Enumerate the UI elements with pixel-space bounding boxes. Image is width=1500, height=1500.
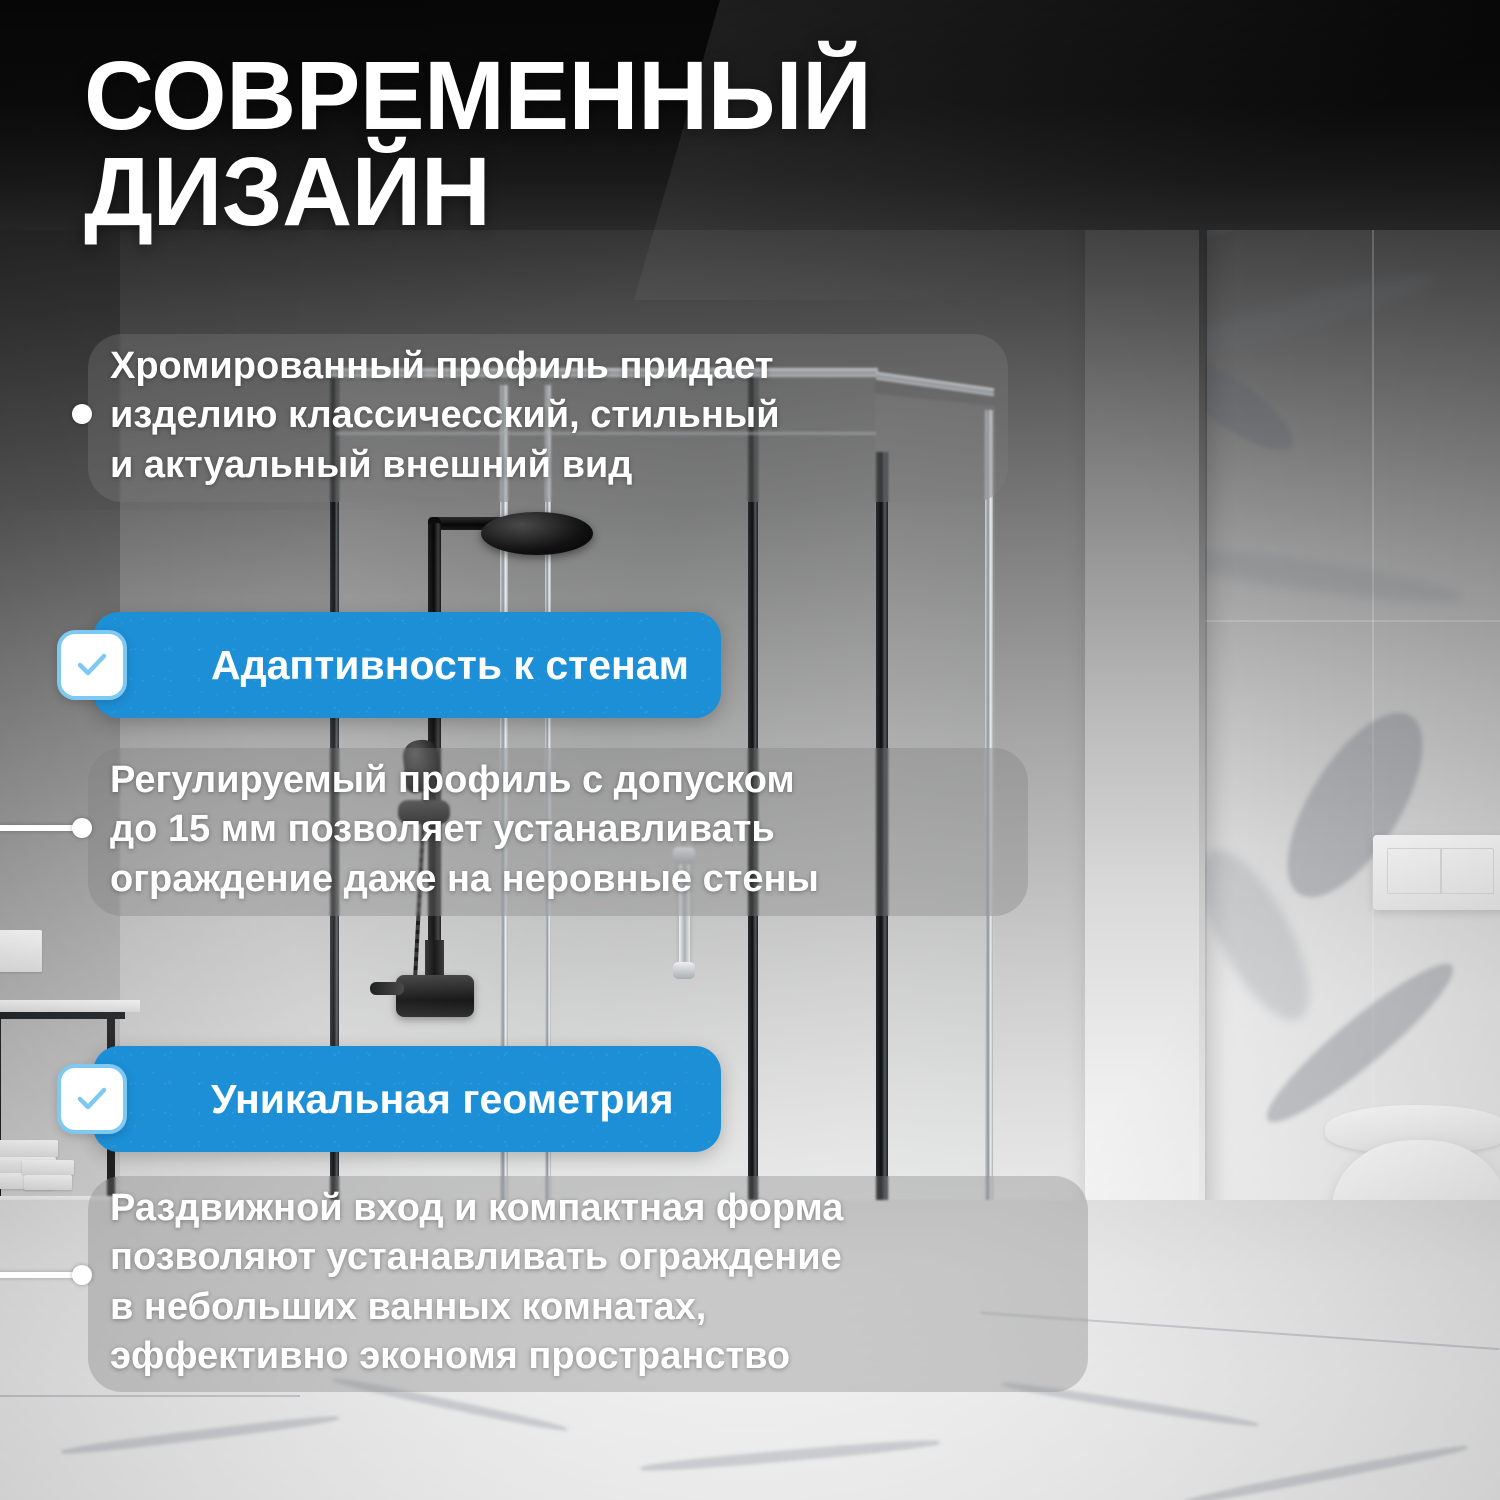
connector-line-sliding-entry [0,1272,82,1278]
check-icon [57,630,127,700]
check-icon [57,1064,127,1134]
badge-label-unique-geometry: Уникальная геометрия [211,1076,674,1123]
feature-badge-wall-adaptivity[interactable]: Адаптивность к стенам [93,612,721,718]
bullet-dot-adjustable-profile [72,818,92,838]
connector-line-adjustable-profile [0,825,82,831]
badge-label-wall-adaptivity: Адаптивность к стенам [211,642,689,689]
bullet-dot-sliding-entry [72,1265,92,1285]
bullet-dot-chrome-profile [72,404,92,424]
feature-badge-unique-geometry[interactable]: Уникальная геометрия [93,1046,721,1152]
content-overlay: СОВРЕМЕННЫЙ ДИЗАЙН Хромированный профиль… [0,0,1500,1500]
feature-text-adjustable-profile: Регулируемый профиль с допуском до 15 мм… [110,756,1030,904]
feature-text-sliding-entry: Раздвижной вход и компактная форма позво… [110,1184,1090,1382]
page-title: СОВРЕМЕННЫЙ ДИЗАЙН [84,48,871,240]
feature-text-chrome-profile: Хромированный профиль придает изделию кл… [110,342,1010,490]
